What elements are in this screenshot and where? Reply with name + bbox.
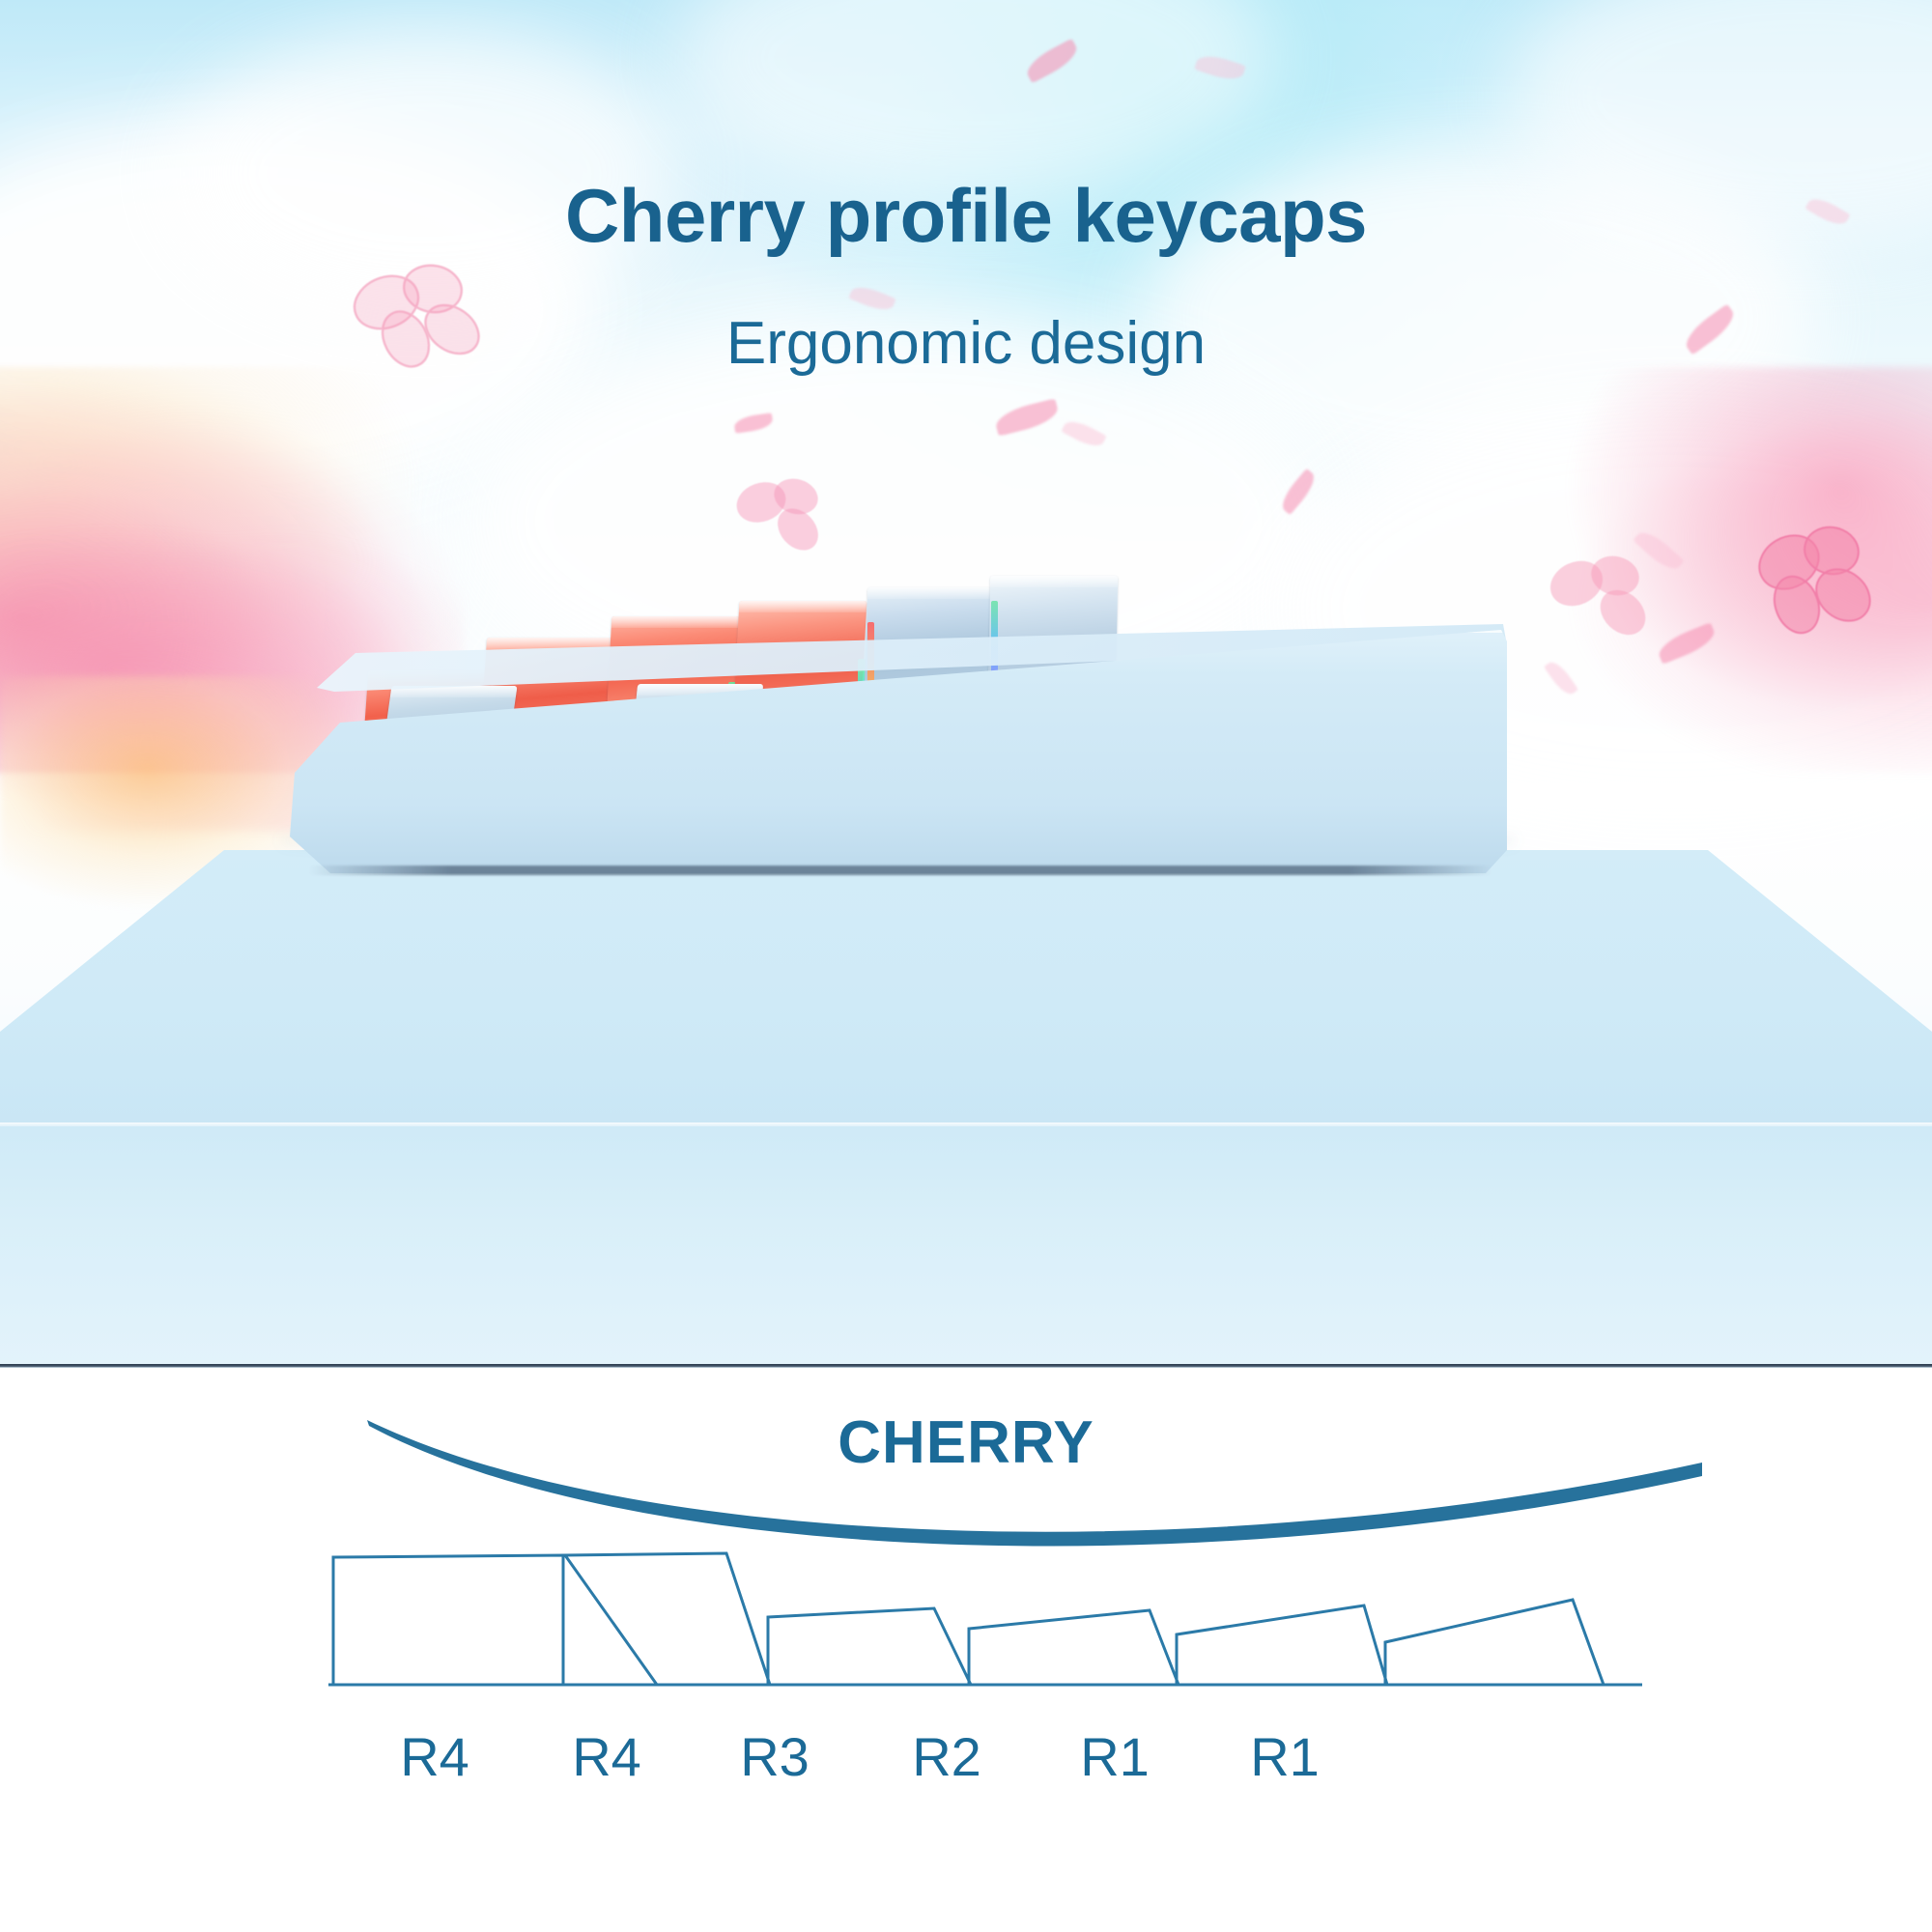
product-marketing-image: Cherry profile keycaps Ergonomic design (0, 0, 1932, 1932)
row-label-r2: R2 (869, 1725, 1024, 1788)
cherry-blossom-icon (1729, 502, 1893, 647)
keycap-profile-r3 (768, 1608, 971, 1685)
keycap-profile-r4-a (333, 1555, 657, 1685)
keyboard (290, 541, 1507, 879)
row-label-r4-b: R4 (529, 1725, 684, 1788)
row-label-r3: R3 (697, 1725, 852, 1788)
row-label-r1-b: R1 (1207, 1725, 1362, 1788)
keycap-profile-r1-a (1177, 1605, 1387, 1685)
keyboard-base-shadow (309, 866, 1492, 875)
keycap-profile-r1-b (1385, 1600, 1604, 1685)
keycap-profile-r2 (969, 1610, 1179, 1685)
product-pedestal (0, 850, 1932, 1368)
row-label-r1-a: R1 (1037, 1725, 1192, 1788)
pedestal-front-face (0, 1126, 1932, 1368)
page-subtitle: Ergonomic design (0, 309, 1932, 378)
keycap-profile-diagram (0, 1368, 1932, 1932)
hero-photo-panel: Cherry profile keycaps Ergonomic design (0, 0, 1932, 1368)
page-title: Cherry profile keycaps (0, 172, 1932, 260)
keycap-profile-r4-b (563, 1553, 770, 1685)
pedestal-top-surface (0, 850, 1932, 1130)
row-label-r4-a: R4 (357, 1725, 512, 1788)
row-label-row: R4 R4 R3 R2 R1 R1 (0, 1725, 1932, 1812)
